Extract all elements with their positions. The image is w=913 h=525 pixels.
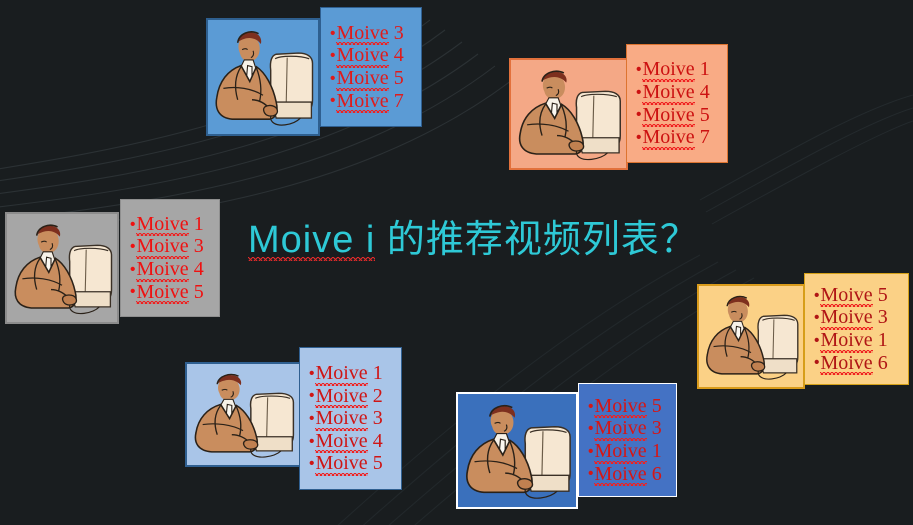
movie-list-box[interactable]: •Moive 3 •Moive 4 •Moive 5 •Moive 7	[320, 7, 422, 127]
list-item-number: 5	[189, 281, 204, 303]
slide-title-cjk: 的推荐视频列表？	[375, 219, 699, 261]
list-item-number: 1	[368, 362, 383, 384]
misspelled-word: Moive	[136, 213, 188, 236]
list-item-number: 4	[368, 430, 383, 452]
list-item: •Moive 5	[330, 67, 413, 90]
misspelled-word: Moive	[315, 430, 367, 453]
person-at-computer-image[interactable]	[185, 362, 301, 467]
misspelled-word: Moive	[594, 440, 646, 463]
movie-list-box[interactable]: •Moive 1 •Moive 3 •Moive 4 •Moive 5	[120, 199, 220, 317]
person-at-computer-image[interactable]	[456, 392, 578, 509]
person-at-computer-image[interactable]	[5, 212, 119, 324]
list-item-number: 4	[189, 258, 204, 280]
misspelled-word: Moive	[594, 463, 646, 486]
misspelled-word: Moive	[642, 126, 694, 149]
list-item: •Moive 3	[130, 235, 211, 258]
list-item: •Moive 4	[309, 430, 393, 453]
list-item-number: 6	[873, 352, 888, 374]
list-item-number: 7	[389, 90, 404, 112]
list-item: •Moive 6	[814, 352, 900, 375]
misspelled-word: Moive	[594, 395, 646, 418]
misspelled-word: Moive	[642, 58, 694, 81]
list-item: •Moive 3	[588, 417, 668, 440]
misspelled-word: Moive	[136, 281, 188, 304]
person-at-computer-image[interactable]	[206, 18, 320, 136]
list-item-number: 6	[647, 463, 662, 485]
misspelled-word: Moive	[594, 417, 646, 440]
misspelled-word: Moive	[315, 452, 367, 475]
list-item-number: 3	[389, 22, 404, 44]
misspelled-word: Moive	[820, 284, 872, 307]
list-item: •Moive 1	[636, 58, 719, 81]
list-item: •Moive 1	[130, 213, 211, 236]
list-item: •Moive 3	[309, 407, 393, 430]
list-item-number: 3	[368, 407, 383, 429]
misspelled-word: Moive	[820, 306, 872, 329]
misspelled-word: Moive	[315, 362, 367, 385]
list-item-number: 3	[873, 306, 888, 328]
misspelled-word: Moive	[820, 329, 872, 352]
list-item-number: 5	[647, 395, 662, 417]
list-item-number: 3	[647, 417, 662, 439]
list-item: •Moive 4	[130, 258, 211, 281]
list-item-number: 3	[189, 235, 204, 257]
list-item-number: 7	[695, 126, 710, 148]
list-item: •Moive 4	[330, 44, 413, 67]
person-at-computer-image[interactable]	[509, 58, 628, 170]
misspelled-word: Moive	[136, 258, 188, 281]
presentation-slide: •Moive 3 •Moive 4 •Moive 5 •Moive 7 •Moi…	[0, 0, 913, 525]
list-item: •Moive 4	[636, 81, 719, 104]
list-item: •Moive 5	[588, 395, 668, 418]
movie-list-box[interactable]: •Moive 5 •Moive 3 •Moive 1 •Moive 6	[578, 383, 677, 497]
list-item-number: 1	[695, 58, 710, 80]
movie-list-box[interactable]: •Moive 1 •Moive 2 •Moive 3 •Moive 4 •Moi…	[299, 347, 402, 490]
misspelled-word: Moive	[136, 235, 188, 258]
misspelled-word: Moive	[642, 81, 694, 104]
movie-list-box[interactable]: •Moive 1 •Moive 4 •Moive 5 •Moive 7	[626, 44, 728, 163]
list-item-number: 4	[389, 44, 404, 66]
misspelled-word: Moive	[642, 104, 694, 127]
list-item-number: 5	[695, 104, 710, 126]
list-item-number: 5	[873, 284, 888, 306]
misspelled-word: Moive	[336, 67, 388, 90]
misspelled-word: Moive	[336, 90, 388, 113]
list-item-number: 1	[189, 213, 204, 235]
slide-title: Moive i 的推荐视频列表？	[248, 208, 699, 263]
list-item: •Moive 6	[588, 463, 668, 486]
list-item: •Moive 5	[130, 281, 211, 304]
list-item: •Moive 2	[309, 385, 393, 408]
list-item: •Moive 5	[814, 284, 900, 307]
movie-list-box[interactable]: •Moive 5 •Moive 3 •Moive 1 •Moive 6	[804, 273, 909, 385]
list-item: •Moive 1	[309, 362, 393, 385]
person-at-computer-image[interactable]	[697, 284, 805, 389]
list-item-number: 1	[873, 329, 888, 351]
slide-title-latin: Moive i	[248, 219, 375, 262]
misspelled-word: Moive	[336, 44, 388, 67]
misspelled-word: Moive	[315, 407, 367, 430]
misspelled-word: Moive	[315, 385, 367, 408]
list-item: •Moive 5	[636, 104, 719, 127]
list-item: •Moive 1	[588, 440, 668, 463]
list-item: •Moive 3	[330, 22, 413, 45]
misspelled-word: Moive	[336, 22, 388, 45]
list-item: •Moive 1	[814, 329, 900, 352]
misspelled-word: Moive	[820, 352, 872, 375]
list-item-number: 2	[368, 385, 383, 407]
list-item: •Moive 5	[309, 452, 393, 475]
list-item-number: 4	[695, 81, 710, 103]
list-item-number: 5	[389, 67, 404, 89]
list-item: •Moive 7	[636, 126, 719, 149]
list-item: •Moive 3	[814, 306, 900, 329]
list-item: •Moive 7	[330, 90, 413, 113]
list-item-number: 5	[368, 452, 383, 474]
list-item-number: 1	[647, 440, 662, 462]
